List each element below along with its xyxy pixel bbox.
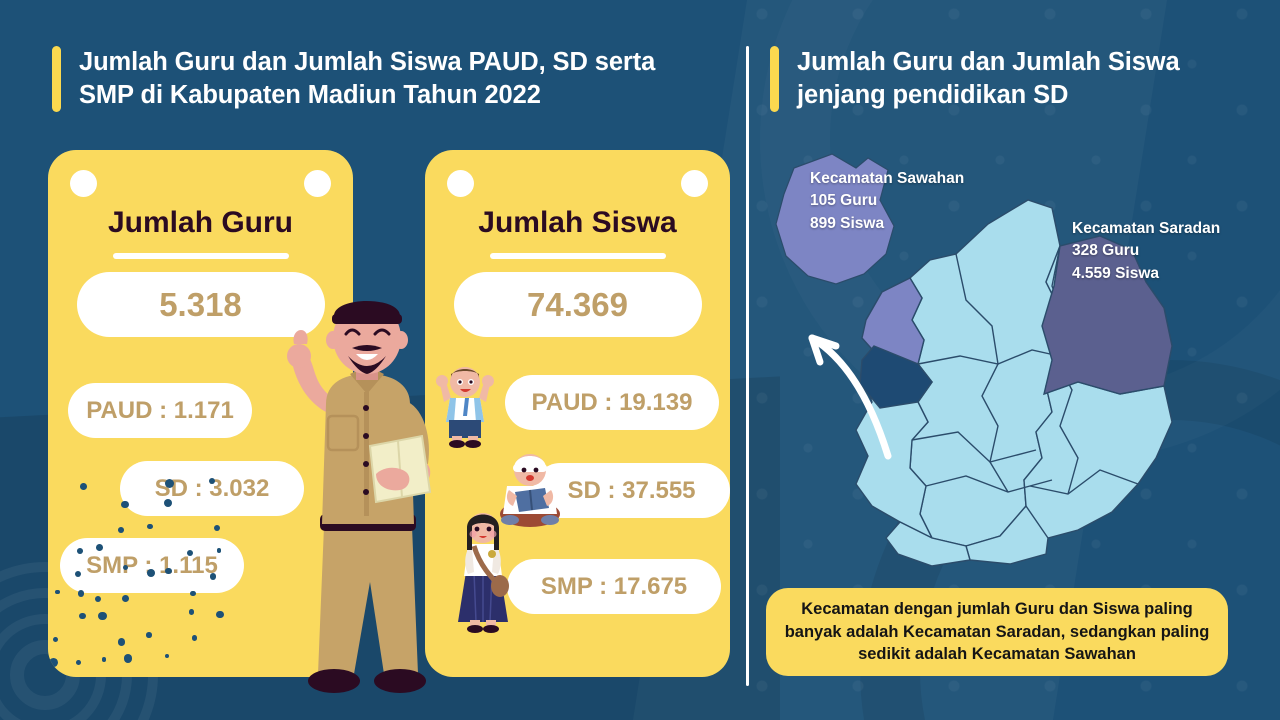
stat-pill-guru-paud: PAUD : 1.171 <box>68 383 252 438</box>
card-guru-heading: Jumlah Guru <box>48 206 353 240</box>
title-accent-bar <box>770 46 779 112</box>
right-panel-title-text: Jumlah Guru dan Jumlah Siswa jenjang pen… <box>797 46 1240 112</box>
panel-divider <box>746 46 749 686</box>
madiun-district-map: Kecamatan Sawahan 105 Guru 899 Siswa Kec… <box>760 150 1260 570</box>
map-label-sawahan-district: Kecamatan Sawahan <box>810 168 964 190</box>
map-label-saradan-district: Kecamatan Saradan <box>1072 218 1220 240</box>
map-label-sawahan: Kecamatan Sawahan 105 Guru 899 Siswa <box>810 168 964 235</box>
punch-hole-icon <box>681 170 708 197</box>
summary-note: Kecamatan dengan jumlah Guru dan Siswa p… <box>766 588 1228 676</box>
infographic-canvas: Jumlah Guru dan Jumlah Siswa PAUD, SD se… <box>0 0 1280 720</box>
card-guru-rule <box>113 253 289 259</box>
card-siswa-rule <box>490 253 666 259</box>
card-siswa-heading: Jumlah Siswa <box>425 206 730 240</box>
left-panel-title-text: Jumlah Guru dan Jumlah Siswa PAUD, SD se… <box>79 46 712 112</box>
punch-hole-icon <box>304 170 331 197</box>
card-siswa-total: 74.369 <box>454 272 702 337</box>
left-panel-title: Jumlah Guru dan Jumlah Siswa PAUD, SD se… <box>52 46 712 112</box>
student-girl-illustration <box>452 510 514 638</box>
stat-pill-siswa-paud: PAUD : 19.139 <box>505 375 719 430</box>
map-label-sawahan-teachers: 105 Guru <box>810 190 964 212</box>
student-boy-illustration <box>432 362 498 448</box>
map-label-saradan: Kecamatan Saradan 328 Guru 4.559 Siswa <box>1072 218 1220 285</box>
map-label-saradan-teachers: 328 Guru <box>1072 240 1220 262</box>
title-accent-bar <box>52 46 61 112</box>
right-panel-title: Jumlah Guru dan Jumlah Siswa jenjang pen… <box>770 46 1240 112</box>
teacher-illustration <box>272 296 462 720</box>
map-label-sawahan-students: 899 Siswa <box>810 213 964 235</box>
card-dot-texture <box>48 477 258 677</box>
map-label-saradan-students: 4.559 Siswa <box>1072 263 1220 285</box>
punch-hole-icon <box>447 170 474 197</box>
punch-hole-icon <box>70 170 97 197</box>
stat-pill-siswa-smp: SMP : 17.675 <box>507 559 721 614</box>
